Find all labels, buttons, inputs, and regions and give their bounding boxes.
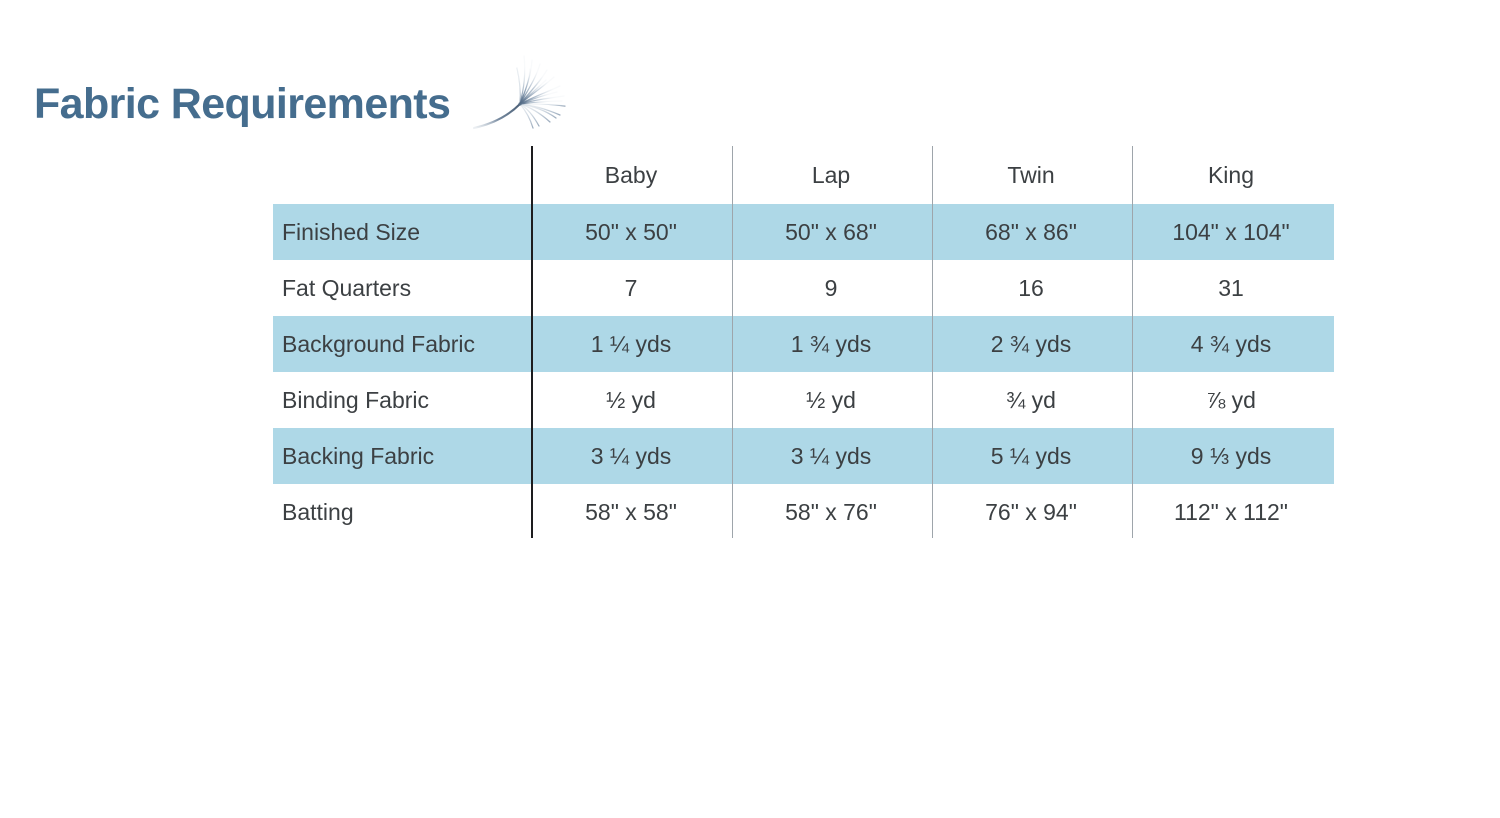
- cell-finished-size-king: 104" x 104": [1131, 219, 1331, 246]
- cell-binding-fabric-baby: ½ yd: [531, 387, 731, 414]
- cell-binding-fabric-king: ⅞ yd: [1131, 387, 1331, 414]
- cell-binding-fabric-twin: ¾ yd: [931, 387, 1131, 414]
- cell-backing-fabric-king: 9 ⅓ yds: [1131, 443, 1331, 470]
- table-row: Batting 58" x 58" 58" x 76" 76" x 94" 11…: [273, 484, 1334, 540]
- cell-backing-fabric-lap: 3 ¼ yds: [731, 443, 931, 470]
- cell-finished-size-lap: 50" x 68": [731, 219, 931, 246]
- cell-finished-size-twin: 68" x 86": [931, 219, 1131, 246]
- fabric-requirements-table: Baby Lap Twin King Finished Size 50" x 5…: [273, 146, 1334, 538]
- cell-batting-twin: 76" x 94": [931, 499, 1131, 526]
- row-label-backing-fabric: Backing Fabric: [273, 443, 531, 470]
- cell-background-fabric-lap: 1 ¾ yds: [731, 331, 931, 358]
- table-content-layer: Baby Lap Twin King Finished Size 50" x 5…: [273, 146, 1334, 538]
- cell-background-fabric-baby: 1 ¼ yds: [531, 331, 731, 358]
- column-header-twin: Twin: [931, 162, 1131, 189]
- row-label-fat-quarters: Fat Quarters: [273, 275, 531, 302]
- table-row: Fat Quarters 7 9 16 31: [273, 260, 1334, 316]
- page-title-container: Fabric Requirements: [34, 70, 450, 138]
- table-row: Finished Size 50" x 50" 50" x 68" 68" x …: [273, 204, 1334, 260]
- cell-binding-fabric-lap: ½ yd: [731, 387, 931, 414]
- cell-fat-quarters-twin: 16: [931, 275, 1131, 302]
- cell-background-fabric-king: 4 ¾ yds: [1131, 331, 1331, 358]
- table-row: Backing Fabric 3 ¼ yds 3 ¼ yds 5 ¼ yds 9…: [273, 428, 1334, 484]
- cell-backing-fabric-baby: 3 ¼ yds: [531, 443, 731, 470]
- cell-backing-fabric-twin: 5 ¼ yds: [931, 443, 1131, 470]
- cell-background-fabric-twin: 2 ¾ yds: [931, 331, 1131, 358]
- cell-fat-quarters-lap: 9: [731, 275, 931, 302]
- column-header-baby: Baby: [531, 162, 731, 189]
- cell-finished-size-baby: 50" x 50": [531, 219, 731, 246]
- cell-batting-king: 112" x 112": [1131, 499, 1331, 526]
- row-label-batting: Batting: [273, 499, 531, 526]
- row-label-binding-fabric: Binding Fabric: [273, 387, 531, 414]
- table-row: Background Fabric 1 ¼ yds 1 ¾ yds 2 ¾ yd…: [273, 316, 1334, 372]
- column-header-king: King: [1131, 162, 1331, 189]
- column-header-lap: Lap: [731, 162, 931, 189]
- cell-batting-lap: 58" x 76": [731, 499, 931, 526]
- row-label-finished-size: Finished Size: [273, 219, 531, 246]
- page-title: Fabric Requirements: [34, 83, 450, 126]
- table-header-row: Baby Lap Twin King: [273, 146, 1334, 204]
- cell-fat-quarters-baby: 7: [531, 275, 731, 302]
- row-label-background-fabric: Background Fabric: [273, 331, 531, 358]
- cell-batting-baby: 58" x 58": [531, 499, 731, 526]
- dandelion-seed-icon: [466, 48, 576, 138]
- table-row: Binding Fabric ½ yd ½ yd ¾ yd ⅞ yd: [273, 372, 1334, 428]
- cell-fat-quarters-king: 31: [1131, 275, 1331, 302]
